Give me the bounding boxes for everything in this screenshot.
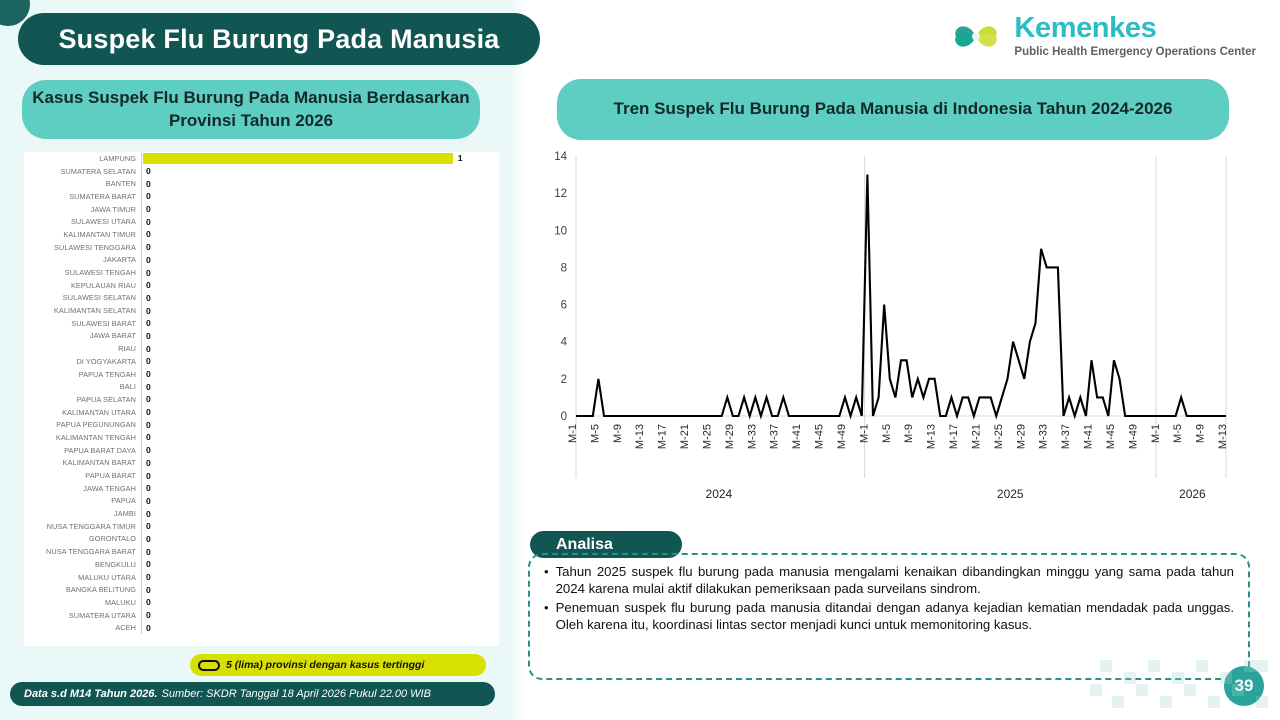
bar-track: 0 — [141, 609, 499, 622]
bar-row: SULAWESI TENGGARA0 — [24, 241, 499, 254]
bar-row: KALIMANTAN TENGAH0 — [24, 431, 499, 444]
bar-row: SULAWESI BARAT0 — [24, 317, 499, 330]
bar-value-label: 0 — [146, 471, 151, 481]
bar-category-label: LAMPUNG — [24, 154, 141, 163]
bar-category-label: BANTEN — [24, 179, 141, 188]
bar-value-label: 0 — [146, 420, 151, 430]
bar-value-label: 0 — [146, 610, 151, 620]
bar-track: 0 — [141, 520, 499, 533]
trend-chart-title-text: Tren Suspek Flu Burung Pada Manusia di I… — [614, 98, 1173, 120]
footer-source-bar: Data s.d M14 Tahun 2026. Sumber: SKDR Ta… — [10, 682, 495, 706]
bar-track: 0 — [141, 317, 499, 330]
bar-category-label: KALIMANTAN BARAT — [24, 458, 141, 467]
bar-category-label: MALUKU — [24, 598, 141, 607]
left-chart-title-text: Kasus Suspek Flu Burung Pada Manusia Ber… — [22, 87, 480, 131]
bar-category-label: BANGKA BELITUNG — [24, 585, 141, 594]
bar-track: 0 — [141, 469, 499, 482]
x-axis-tick-label: M-13 — [926, 424, 938, 449]
bar-value-label: 0 — [146, 597, 151, 607]
x-axis-tick-label: M-1 — [567, 424, 579, 443]
bar-category-label: PAPUA BARAT DAYA — [24, 446, 141, 455]
bar-track: 0 — [141, 558, 499, 571]
bar-row: JAMBI0 — [24, 507, 499, 520]
bar-category-label: JAWA TIMUR — [24, 205, 141, 214]
bar-track: 0 — [141, 393, 499, 406]
bar-value-label: 1 — [458, 153, 463, 163]
x-axis-tick-label: M-17 — [948, 424, 960, 449]
bar-category-label: JAWA TENGAH — [24, 484, 141, 493]
bar-row: MALUKU UTARA0 — [24, 571, 499, 584]
bar-row: PAPUA BARAT0 — [24, 469, 499, 482]
bar-value-label: 0 — [146, 293, 151, 303]
left-chart-title: Kasus Suspek Flu Burung Pada Manusia Ber… — [22, 80, 480, 139]
bar-value-label: 0 — [146, 483, 151, 493]
legend-top-provinces: 5 (lima) provinsi dengan kasus tertinggi — [190, 654, 486, 676]
bar-value-label: 0 — [146, 331, 151, 341]
bar-track: 0 — [141, 330, 499, 343]
y-axis-tick-label: 14 — [554, 151, 567, 163]
capsule-icon — [198, 660, 220, 671]
bullet-icon: • — [540, 563, 549, 598]
bar-value-label: 0 — [146, 585, 151, 595]
bar-track: 0 — [141, 621, 499, 634]
y-axis-tick-label: 0 — [561, 411, 567, 423]
bar-value-label: 0 — [146, 559, 151, 569]
bar-track: 0 — [141, 254, 499, 267]
analisa-bullet-item: •Tahun 2025 suspek flu burung pada manus… — [540, 563, 1234, 598]
bar-track: 0 — [141, 292, 499, 305]
logo-brand: Kemenkes — [1014, 14, 1256, 43]
bar-track: 0 — [141, 380, 499, 393]
bar-value-label: 0 — [146, 229, 151, 239]
x-axis-tick-label: M-1 — [858, 424, 870, 443]
bar-category-label: GORONTALO — [24, 534, 141, 543]
kemenkes-logo: Kemenkes Public Health Emergency Operati… — [947, 8, 1256, 66]
bar-track: 0 — [141, 583, 499, 596]
bar-row: PAPUA PEGUNUNGAN0 — [24, 418, 499, 431]
bar-value-label: 0 — [146, 166, 151, 176]
bar-row: KEPULAUAN RIAU0 — [24, 279, 499, 292]
x-axis-tick-label: M-13 — [634, 424, 646, 449]
bar-track: 0 — [141, 342, 499, 355]
x-axis-tick-label: M-37 — [1060, 424, 1072, 449]
bar-row: ACEH0 — [24, 621, 499, 634]
bar-row: JAWA TENGAH0 — [24, 482, 499, 495]
bar-value-label: 0 — [146, 394, 151, 404]
bar-category-label: MALUKU UTARA — [24, 573, 141, 582]
bar-category-label: ACEH — [24, 623, 141, 632]
bar-row: PAPUA TENGAH0 — [24, 368, 499, 381]
bar-category-label: SULAWESI TENGAH — [24, 268, 141, 277]
bar-row: NUSA TENGGARA TIMUR0 — [24, 520, 499, 533]
bar-category-label: JAKARTA — [24, 255, 141, 264]
trend-line-series — [576, 175, 1226, 416]
analisa-bullet-text: Tahun 2025 suspek flu burung pada manusi… — [556, 563, 1234, 598]
bar-value-label: 0 — [146, 191, 151, 201]
bar-value-label: 0 — [146, 268, 151, 278]
bar-track: 1 — [141, 152, 499, 165]
x-axis-tick-label: M-1 — [1150, 424, 1162, 443]
x-axis-tick-label: M-9 — [612, 424, 624, 443]
x-axis-group-label: 2026 — [1179, 487, 1206, 501]
x-axis-tick-label: M-29 — [724, 424, 736, 449]
bar-row: MALUKU0 — [24, 596, 499, 609]
kemenkes-logo-icon — [947, 8, 1005, 66]
x-axis-tick-label: M-21 — [970, 424, 982, 449]
bar-category-label: SUMATERA SELATAN — [24, 167, 141, 176]
bar-track: 0 — [141, 304, 499, 317]
bar-value-label: 0 — [146, 242, 151, 252]
bar-row: NUSA TENGGARA BARAT0 — [24, 545, 499, 558]
bar-row: LAMPUNG1 — [24, 152, 499, 165]
x-axis-tick-label: M-41 — [791, 424, 803, 449]
bar-value-label: 0 — [146, 509, 151, 519]
x-axis-tick-label: M-25 — [701, 424, 713, 449]
bar-category-label: DI YOGYAKARTA — [24, 357, 141, 366]
bar-value-label: 0 — [146, 534, 151, 544]
analisa-bullet-item: •Penemuan suspek flu burung pada manusia… — [540, 599, 1234, 634]
bar-value-label: 0 — [146, 407, 151, 417]
trend-line-chart: 02468101214M-1M-5M-9M-13M-17M-21M-25M-29… — [534, 148, 1234, 508]
bar-row: JAKARTA0 — [24, 254, 499, 267]
bar-category-label: PAPUA TENGAH — [24, 370, 141, 379]
bar-value-label: 0 — [146, 306, 151, 316]
province-bar-chart: LAMPUNG1SUMATERA SELATAN0BANTEN0SUMATERA… — [24, 152, 499, 646]
legend-note-text: 5 (lima) provinsi dengan kasus tertinggi — [226, 659, 424, 671]
x-axis-tick-label: M-33 — [1038, 424, 1050, 449]
bar-track: 0 — [141, 203, 499, 216]
bar-value-label: 0 — [146, 204, 151, 214]
bar-category-label: BENGKULU — [24, 560, 141, 569]
bar-value-label: 0 — [146, 179, 151, 189]
bar-category-label: KALIMANTAN SELATAN — [24, 306, 141, 315]
bar-row: SUMATERA BARAT0 — [24, 190, 499, 203]
bar-row: SUMATERA SELATAN0 — [24, 165, 499, 178]
page-title-text: Suspek Flu Burung Pada Manusia — [58, 24, 499, 55]
y-axis-tick-label: 4 — [561, 337, 568, 349]
y-axis-tick-label: 8 — [561, 262, 567, 274]
bar-track: 0 — [141, 228, 499, 241]
bar-value-label: 0 — [146, 445, 151, 455]
bar-row: RIAU0 — [24, 342, 499, 355]
x-axis-tick-label: M-49 — [1127, 424, 1139, 449]
analisa-bullet-text: Penemuan suspek flu burung pada manusia … — [556, 599, 1234, 634]
x-axis-tick-label: M-17 — [657, 424, 669, 449]
bar-category-label: RIAU — [24, 344, 141, 353]
bar-value-label: 0 — [146, 280, 151, 290]
bar-track: 0 — [141, 545, 499, 558]
bar-category-label: SUMATERA BARAT — [24, 192, 141, 201]
bar-row: SULAWESI SELATAN0 — [24, 292, 499, 305]
bar-category-label: PAPUA SELATAN — [24, 395, 141, 404]
bar-category-label: SULAWESI UTARA — [24, 217, 141, 226]
x-axis-tick-label: M-33 — [746, 424, 758, 449]
bar-row: SUMATERA UTARA0 — [24, 609, 499, 622]
bar-category-label: NUSA TENGGARA BARAT — [24, 547, 141, 556]
y-axis-tick-label: 12 — [554, 188, 567, 200]
bar-row: BENGKULU0 — [24, 558, 499, 571]
bar-row: SULAWESI UTARA0 — [24, 215, 499, 228]
bar-category-label: NUSA TENGGARA TIMUR — [24, 522, 141, 531]
x-axis-tick-label: M-41 — [1083, 424, 1095, 449]
page-title: Suspek Flu Burung Pada Manusia — [18, 13, 540, 65]
bar-category-label: SUMATERA UTARA — [24, 611, 141, 620]
x-axis-tick-label: M-49 — [836, 424, 848, 449]
x-axis-tick-label: M-45 — [1105, 424, 1117, 449]
bar-track: 0 — [141, 533, 499, 546]
bar-track: 0 — [141, 368, 499, 381]
x-axis-tick-label: M-13 — [1217, 424, 1229, 449]
bar-value-label: 0 — [146, 623, 151, 633]
bar-value-label: 0 — [146, 382, 151, 392]
bar-value-label: 0 — [146, 521, 151, 531]
bar-value-label: 0 — [146, 572, 151, 582]
bar-track: 0 — [141, 457, 499, 470]
bar-track: 0 — [141, 266, 499, 279]
bar-value-label: 0 — [146, 369, 151, 379]
bar-track: 0 — [141, 596, 499, 609]
bar-track: 0 — [141, 495, 499, 508]
bar-value-label: 0 — [146, 458, 151, 468]
bar-track: 0 — [141, 444, 499, 457]
bar-category-label: JAWA BARAT — [24, 331, 141, 340]
x-axis-tick-label: M-29 — [1015, 424, 1027, 449]
x-axis-tick-label: M-9 — [903, 424, 915, 443]
x-axis-tick-label: M-5 — [881, 424, 893, 443]
bar-row: BALI0 — [24, 380, 499, 393]
x-axis-tick-label: M-5 — [1172, 424, 1184, 443]
bar-track: 0 — [141, 241, 499, 254]
bar-track: 0 — [141, 431, 499, 444]
bar-track: 0 — [141, 507, 499, 520]
bar-row: JAWA TIMUR0 — [24, 203, 499, 216]
bar-value-label: 0 — [146, 344, 151, 354]
bar-value-label: 0 — [146, 217, 151, 227]
bar-value-label: 0 — [146, 318, 151, 328]
bar-category-label: BALI — [24, 382, 141, 391]
bar-row: KALIMANTAN SELATAN0 — [24, 304, 499, 317]
x-axis-tick-label: M-45 — [814, 424, 826, 449]
footer-data-period: Data s.d M14 Tahun 2026. — [24, 688, 157, 700]
bar-category-label: SULAWESI BARAT — [24, 319, 141, 328]
bar-value-label: 0 — [146, 255, 151, 265]
y-axis-tick-label: 10 — [554, 225, 567, 237]
bar-row: KALIMANTAN TIMUR0 — [24, 228, 499, 241]
x-axis-tick-label: M-37 — [769, 424, 781, 449]
bar-row: BANGKA BELITUNG0 — [24, 583, 499, 596]
bar-row: PAPUA0 — [24, 495, 499, 508]
bar-category-label: JAMBI — [24, 509, 141, 518]
logo-subtitle: Public Health Emergency Operations Cente… — [1014, 45, 1256, 60]
bar-value-label: 0 — [146, 356, 151, 366]
footer-source: Sumber: SKDR Tanggal 18 April 2026 Pukul… — [161, 688, 430, 700]
x-axis-tick-label: M-25 — [993, 424, 1005, 449]
bar-category-label: KALIMANTAN TIMUR — [24, 230, 141, 239]
corner-decorative-pattern — [1090, 650, 1280, 720]
x-axis-tick-label: M-5 — [589, 424, 601, 443]
bar-category-label: KALIMANTAN UTARA — [24, 408, 141, 417]
x-axis-group-label: 2025 — [997, 487, 1024, 501]
bar-track: 0 — [141, 190, 499, 203]
y-axis-tick-label: 2 — [561, 374, 567, 386]
analisa-label-text: Analisa — [556, 536, 613, 554]
bar-category-label: SULAWESI SELATAN — [24, 293, 141, 302]
bar-row: KALIMANTAN BARAT0 — [24, 457, 499, 470]
bar-track: 0 — [141, 418, 499, 431]
bar-track: 0 — [141, 406, 499, 419]
bar-row: DI YOGYAKARTA0 — [24, 355, 499, 368]
bar-row: PAPUA BARAT DAYA0 — [24, 444, 499, 457]
bar-category-label: PAPUA — [24, 496, 141, 505]
bar-row: GORONTALO0 — [24, 533, 499, 546]
bar-value-label: 0 — [146, 547, 151, 557]
bar-fill — [143, 153, 453, 164]
bar-category-label: PAPUA PEGUNUNGAN — [24, 420, 141, 429]
bar-track: 0 — [141, 571, 499, 584]
bar-row: KALIMANTAN UTARA0 — [24, 406, 499, 419]
x-axis-group-label: 2024 — [706, 487, 733, 501]
bullet-icon: • — [540, 599, 549, 634]
bar-category-label: KEPULAUAN RIAU — [24, 281, 141, 290]
bar-track: 0 — [141, 165, 499, 178]
bar-category-label: SULAWESI TENGGARA — [24, 243, 141, 252]
x-axis-tick-label: M-21 — [679, 424, 691, 449]
bar-track: 0 — [141, 215, 499, 228]
bar-value-label: 0 — [146, 432, 151, 442]
x-axis-tick-label: M-9 — [1195, 424, 1207, 443]
bar-row: BANTEN0 — [24, 177, 499, 190]
bar-category-label: KALIMANTAN TENGAH — [24, 433, 141, 442]
bar-row: PAPUA SELATAN0 — [24, 393, 499, 406]
y-axis-tick-label: 6 — [561, 300, 567, 312]
bar-track: 0 — [141, 355, 499, 368]
bar-track: 0 — [141, 177, 499, 190]
bar-track: 0 — [141, 482, 499, 495]
bar-row: SULAWESI TENGAH0 — [24, 266, 499, 279]
bar-value-label: 0 — [146, 496, 151, 506]
trend-chart-title: Tren Suspek Flu Burung Pada Manusia di I… — [557, 79, 1229, 140]
bar-row: JAWA BARAT0 — [24, 330, 499, 343]
bar-track: 0 — [141, 279, 499, 292]
bar-category-label: PAPUA BARAT — [24, 471, 141, 480]
